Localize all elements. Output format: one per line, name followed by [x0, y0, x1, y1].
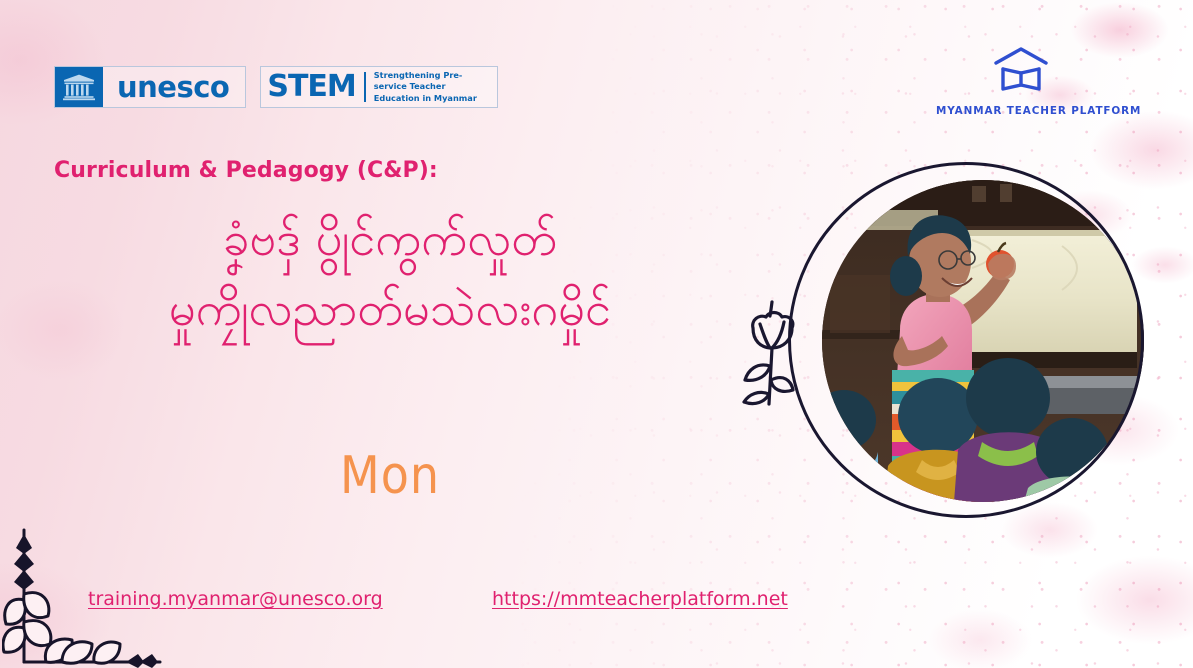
stem-logo: STEM Strengthening Pre-service Teacher E… — [260, 66, 497, 108]
stem-tagline: Strengthening Pre-service Teacher Educat… — [366, 70, 489, 103]
photo-circle-frame — [788, 162, 1144, 518]
page-title: ခၞံဗဒှ် ပွိုင်ကွက်လှုတ် မှုကၠိုလညာတ်မသဲလ… — [40, 205, 740, 344]
stem-wordmark: STEM — [267, 72, 365, 102]
page-eyebrow: Curriculum & Pedagogy (C&P): — [54, 158, 438, 183]
poster-canvas: unesco STEM Strengthening Pre-service Te… — [0, 0, 1193, 668]
contact-website-link[interactable]: https://mmteacherplatform.net — [492, 588, 788, 610]
unesco-logo: unesco — [54, 66, 246, 108]
page-title-line-2: မှုကၠိုလညာတ်မသဲလးဂမှိုင် — [40, 275, 740, 345]
unesco-wordmark: unesco — [103, 73, 245, 102]
myanmar-teacher-platform-logo: MYANMAR TEACHER PLATFORM — [936, 46, 1106, 117]
logo-strip: unesco STEM Strengthening Pre-service Te… — [54, 66, 498, 108]
page-title-line-1: ခၞံဗဒှ် ပွိုင်ကွက်လှုတ် — [40, 205, 740, 275]
open-book-roof-icon — [936, 46, 1106, 101]
classroom-photo — [800, 168, 1156, 524]
myanmar-teacher-platform-name: MYANMAR TEACHER PLATFORM — [936, 105, 1106, 117]
greek-temple-icon — [55, 67, 103, 107]
language-label: Mon — [40, 445, 740, 505]
contact-email-link[interactable]: training.myanmar@unesco.org — [88, 588, 383, 610]
